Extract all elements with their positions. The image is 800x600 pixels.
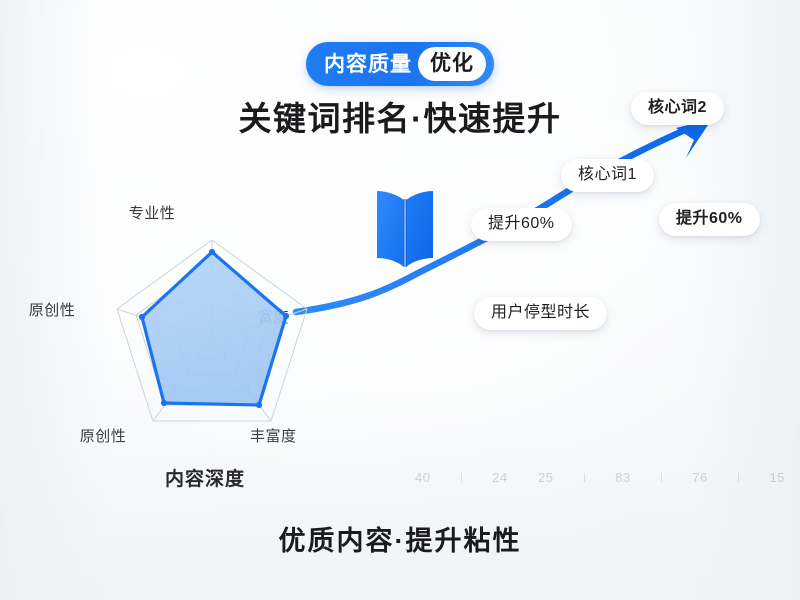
poster-canvas: 内容质量 优化 关键词排名·快速提升	[0, 0, 800, 600]
axis-value: 24	[492, 470, 507, 485]
pill-uplift-right: 提升60%	[659, 203, 760, 236]
badge-chip-label: 优化	[418, 47, 486, 81]
axis-value: 40	[415, 470, 430, 485]
status-badge: 内容质量 优化	[306, 42, 494, 86]
axis-value: 76	[692, 470, 707, 485]
page-title: 关键词排名·快速提升	[239, 92, 562, 140]
badge-main-label: 内容质量	[324, 54, 412, 75]
bottom-title: 优质内容·提升粘性	[279, 519, 522, 558]
axis-tick-icon	[461, 473, 462, 482]
axis-tick-icon	[661, 473, 662, 482]
pill-keyword-2: 核心词2	[631, 92, 724, 125]
pill-dwell-time: 用户停型时长	[474, 297, 607, 330]
pill-uplift-left: 提升60%	[471, 208, 572, 241]
radar-chart-svg	[60, 225, 350, 455]
radar-chart	[60, 225, 350, 455]
radar-label-top: 专业性	[129, 202, 176, 223]
open-book-icon	[374, 186, 436, 270]
sub-caption: 内容深度	[165, 464, 245, 491]
axis-tick-icon	[738, 473, 739, 482]
axis-value: 83	[615, 470, 630, 485]
axis-value: 15	[769, 470, 784, 485]
faded-axis-strip: 40 24 25 83 76 15	[415, 466, 785, 488]
pill-keyword-1: 核心词1	[561, 159, 654, 192]
axis-value: 25	[538, 470, 553, 485]
axis-tick-icon	[584, 473, 585, 482]
